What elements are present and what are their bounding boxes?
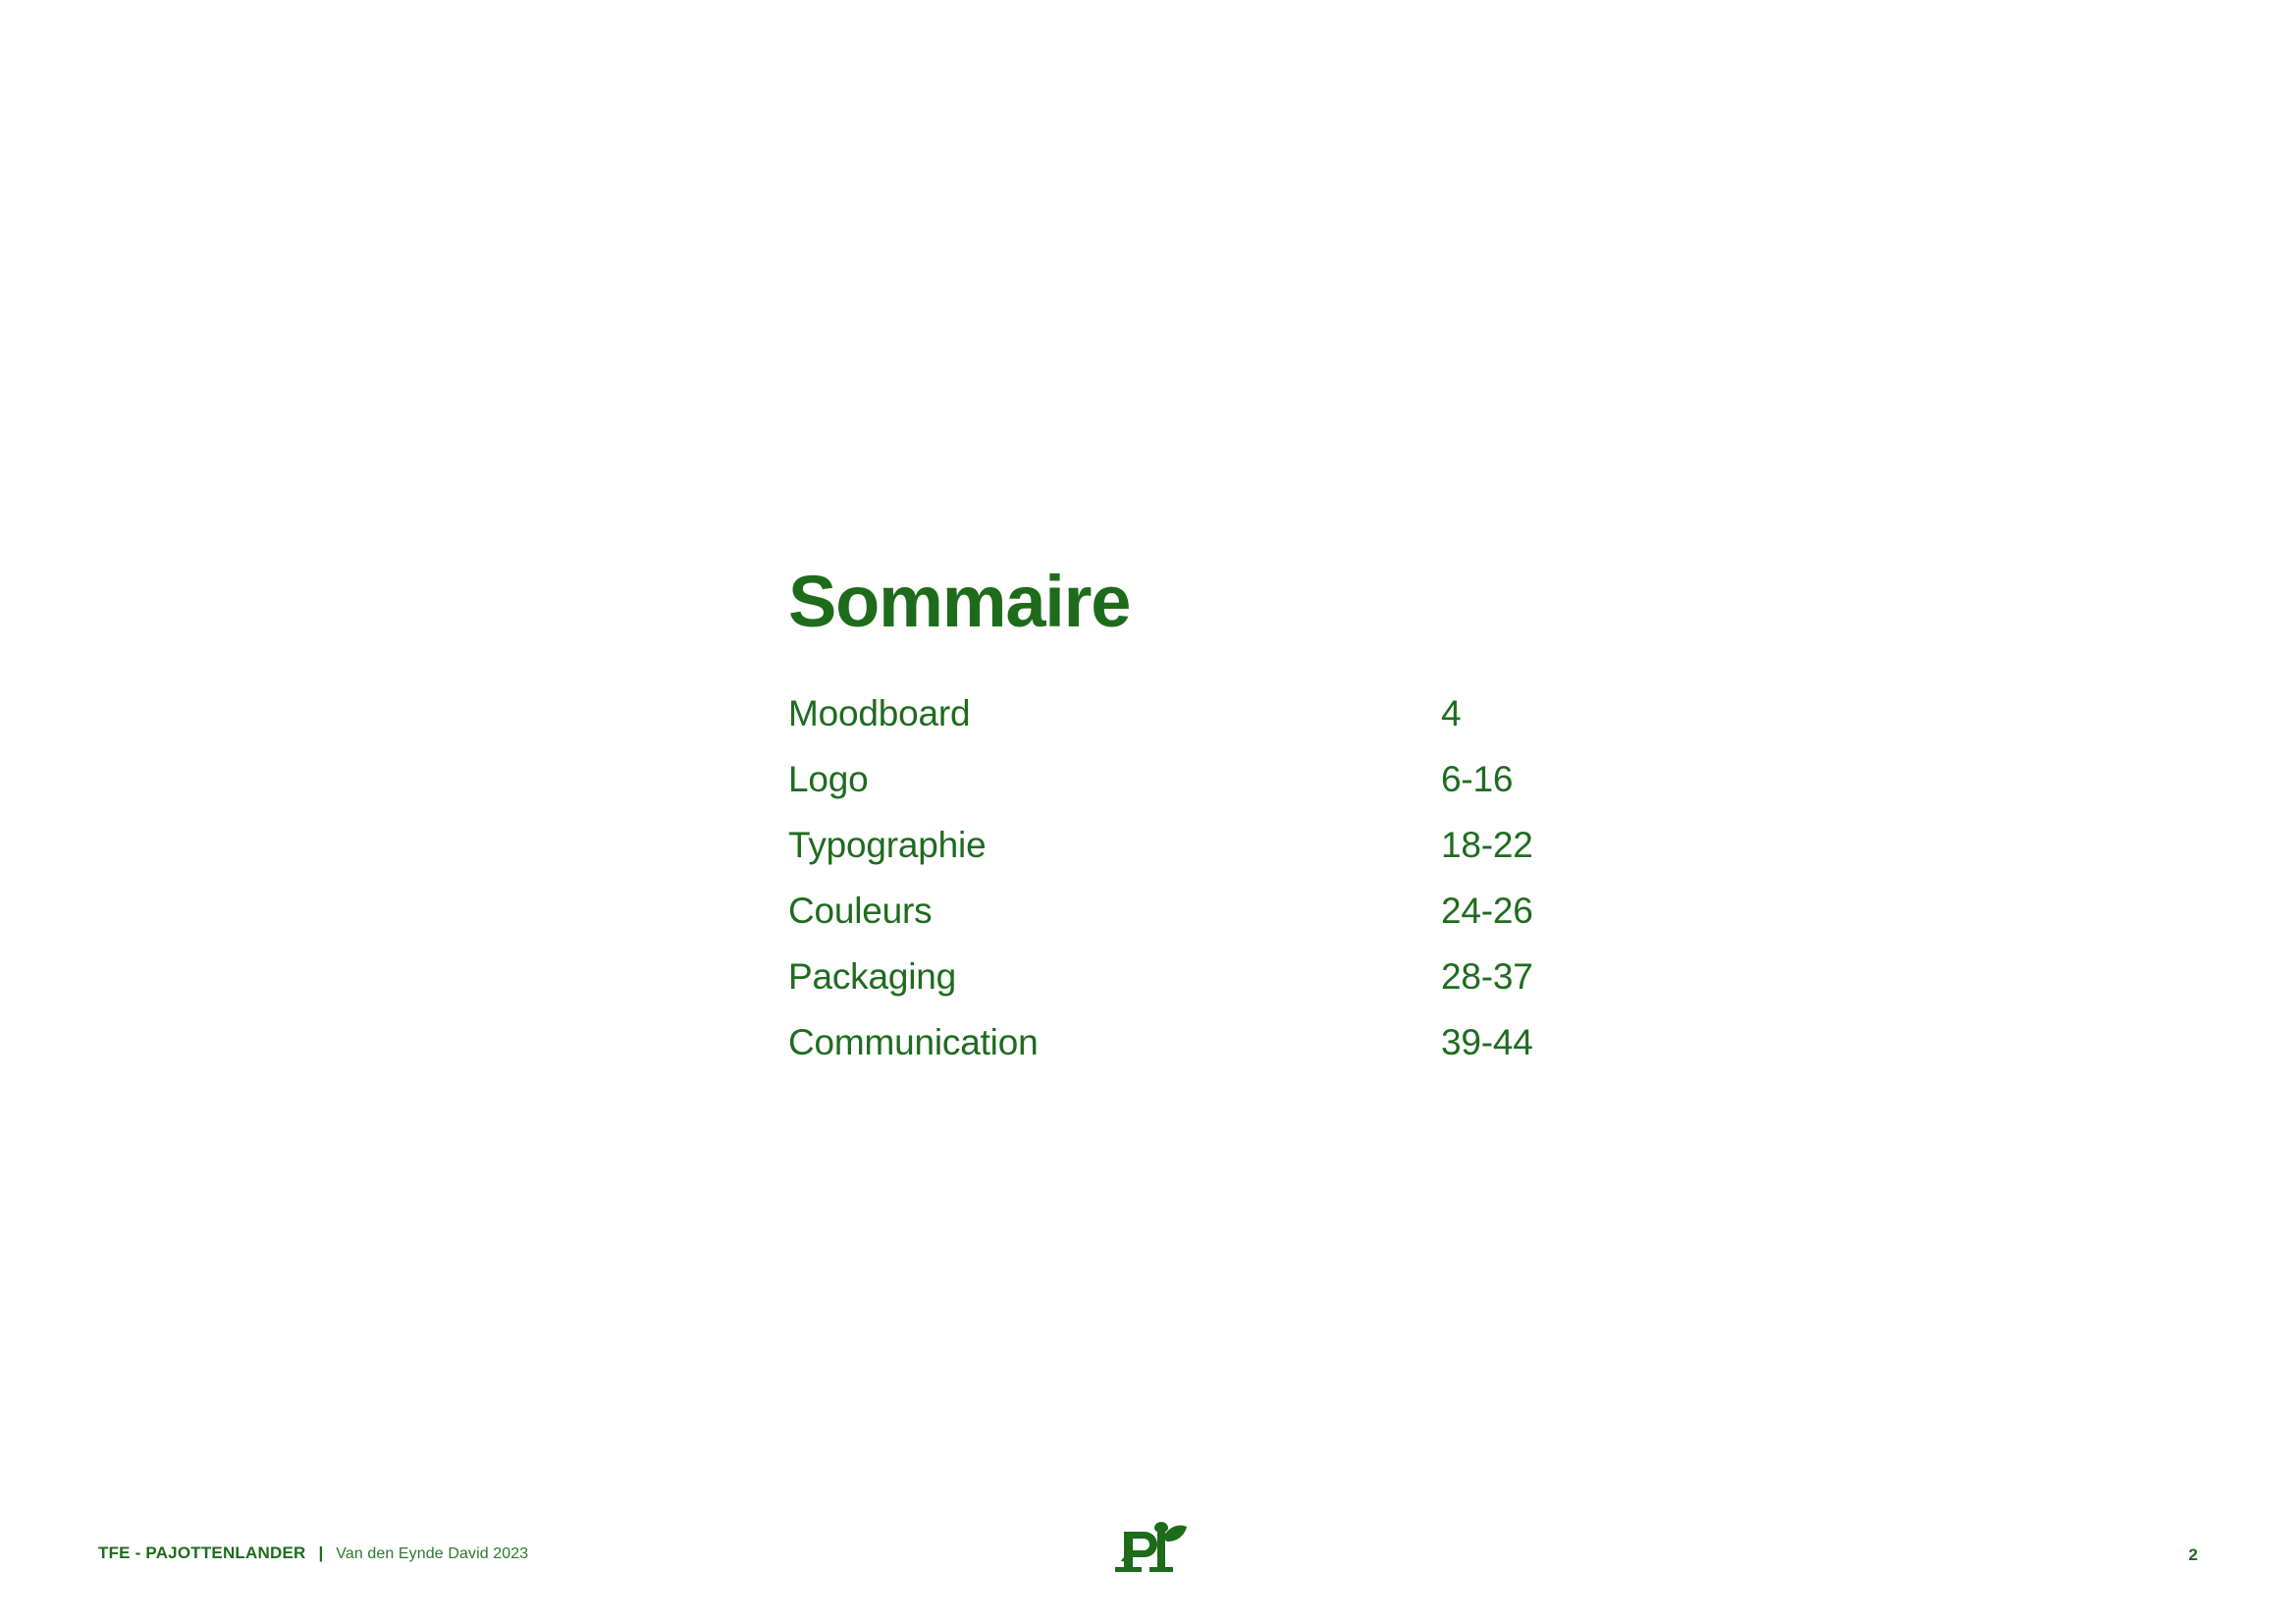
pajottenlander-p-leaf-logo <box>1106 1514 1191 1583</box>
document-page: Sommaire Moodboard 4 Logo 6-16 Typograph… <box>0 0 2296 1624</box>
footer-author-label: Van den Eynde David 2023 <box>336 1545 528 1563</box>
toc-entry-pages: 28-37 <box>1441 956 1533 998</box>
page-footer: TFE - PAJOTTENLANDER | Van den Eynde Dav… <box>0 1516 2296 1624</box>
toc-entry-pages: 39-44 <box>1441 1022 1533 1063</box>
toc-entry-label: Typographie <box>788 825 1441 866</box>
toc-entry-pages: 4 <box>1441 693 1461 734</box>
footer-separator: | <box>318 1543 323 1563</box>
toc-entry-label: Moodboard <box>788 693 1441 734</box>
footer-credit: TFE - PAJOTTENLANDER | Van den Eynde Dav… <box>98 1543 528 1563</box>
toc-entry-pages: 24-26 <box>1441 891 1533 932</box>
toc-entry-label: Logo <box>788 759 1441 800</box>
page-number: 2 <box>2189 1546 2198 1563</box>
toc-entry-couleurs[interactable]: Couleurs 24-26 <box>788 891 1672 956</box>
toc-entry-label: Couleurs <box>788 891 1441 932</box>
toc-entry-logo[interactable]: Logo 6-16 <box>788 759 1672 825</box>
toc-entry-moodboard[interactable]: Moodboard 4 <box>788 693 1672 759</box>
footer-brand-label: TFE - PAJOTTENLANDER <box>98 1543 305 1563</box>
table-of-contents: Sommaire Moodboard 4 Logo 6-16 Typograph… <box>788 566 1672 1088</box>
toc-entry-label: Packaging <box>788 956 1441 998</box>
toc-entry-pages: 18-22 <box>1441 825 1533 866</box>
toc-entry-communication[interactable]: Communication 39-44 <box>788 1022 1672 1088</box>
toc-entry-typographie[interactable]: Typographie 18-22 <box>788 825 1672 891</box>
toc-entry-pages: 6-16 <box>1441 759 1513 800</box>
toc-entry-packaging[interactable]: Packaging 28-37 <box>788 956 1672 1022</box>
page-title: Sommaire <box>788 566 1672 638</box>
toc-list: Moodboard 4 Logo 6-16 Typographie 18-22 … <box>788 693 1672 1088</box>
toc-entry-label: Communication <box>788 1022 1441 1063</box>
